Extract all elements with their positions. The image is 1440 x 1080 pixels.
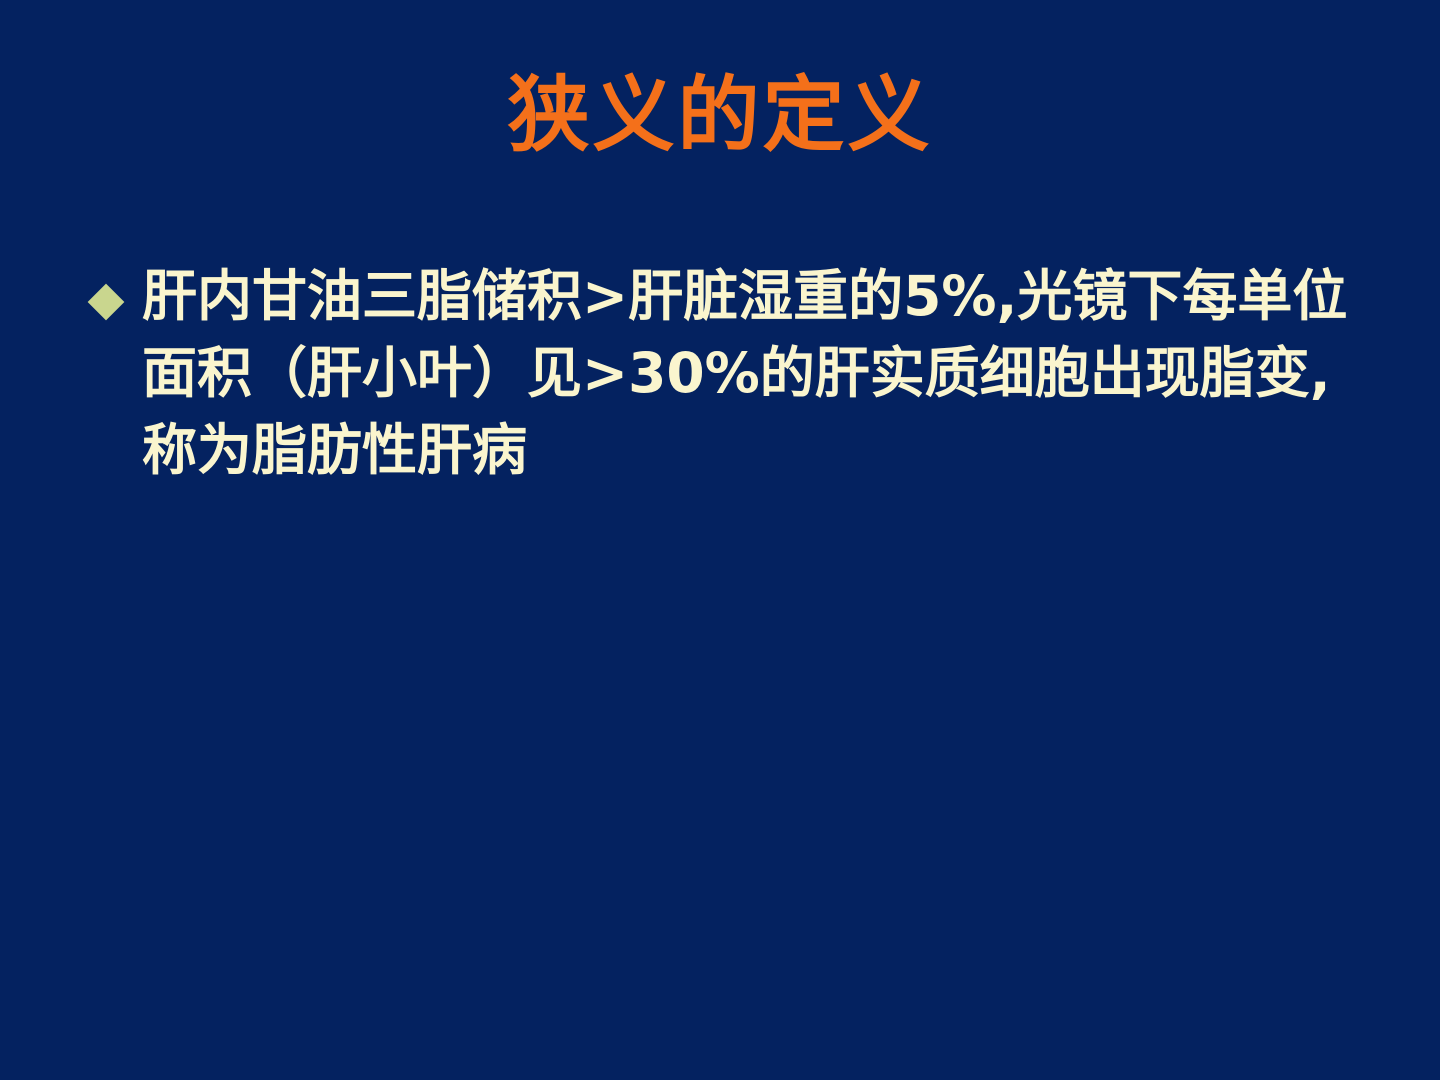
list-item-label: 肝内甘油三脂储积>肝脏湿重的5%,光镜下每单位面积（肝小叶）见>30%的肝实质细… (142, 258, 1356, 489)
diamond-bullet-icon (88, 284, 125, 321)
list-item: 肝内甘油三脂储积>肝脏湿重的5%,光镜下每单位面积（肝小叶）见>30%的肝实质细… (86, 258, 1356, 489)
page-title: 狭义的定义 (0, 72, 1440, 161)
presentation-slide: 狭义的定义 肝内甘油三脂储积>肝脏湿重的5%,光镜下每单位面积（肝小叶）见>30… (0, 0, 1440, 1080)
slide-body-content: 肝内甘油三脂储积>肝脏湿重的5%,光镜下每单位面积（肝小叶）见>30%的肝实质细… (86, 258, 1356, 489)
